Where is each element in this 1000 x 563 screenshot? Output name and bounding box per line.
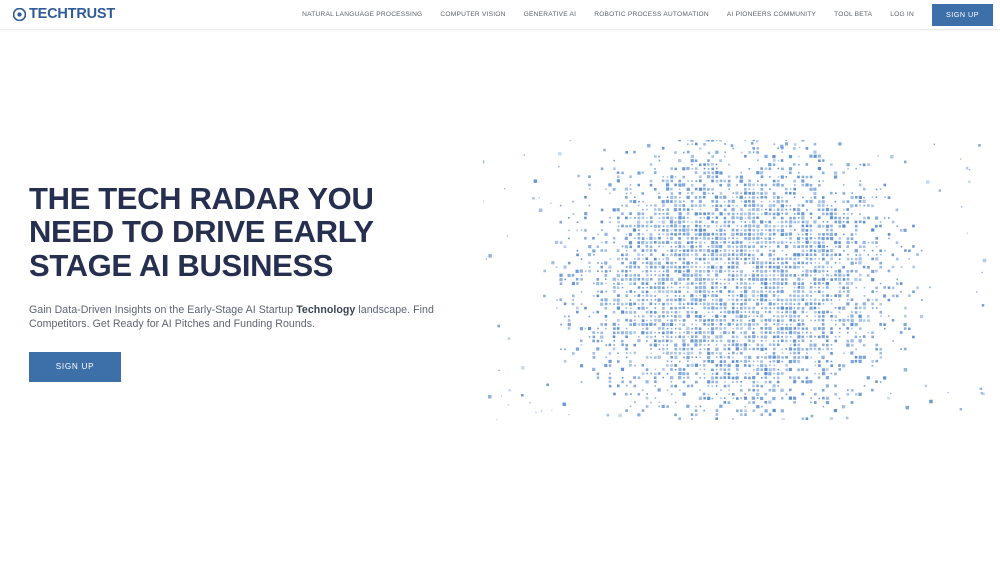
nav-item-computer-vision[interactable]: COMPUTER VISION: [431, 0, 514, 30]
nav-item-generative-ai[interactable]: GENERATIVE AI: [515, 0, 586, 30]
hero-subtitle: Gain Data-Driven Insights on the Early-S…: [29, 303, 439, 331]
site-header: TECHTRUST NATURAL LANGUAGE PROCESSING CO…: [0, 0, 1000, 30]
nav-item-robotic-process-automation[interactable]: ROBOTIC PROCESS AUTOMATION: [585, 0, 718, 30]
header-signup-button[interactable]: SIGN UP: [932, 4, 993, 26]
nav-item-tool-beta[interactable]: TOOL BETA: [825, 0, 881, 30]
main-navigation: NATURAL LANGUAGE PROCESSING COMPUTER VIS…: [293, 0, 1000, 30]
nav-item-natural-language-processing[interactable]: NATURAL LANGUAGE PROCESSING: [293, 0, 431, 30]
dot-matrix-cluster-graphic: [483, 140, 988, 420]
page-title: THE TECH RADAR YOU NEED TO DRIVE EARLY S…: [29, 182, 449, 282]
nav-item-log-in[interactable]: LOG IN: [881, 0, 923, 30]
radar-target-icon: [13, 8, 26, 21]
brand-logo[interactable]: TECHTRUST: [13, 7, 115, 22]
hero-signup-button[interactable]: SIGN UP: [29, 352, 121, 382]
brand-name: TECHTRUST: [29, 7, 115, 22]
nav-item-ai-pioneers-community[interactable]: AI PIONEERS COMMUNITY: [718, 0, 825, 30]
hero-section: THE TECH RADAR YOU NEED TO DRIVE EARLY S…: [0, 30, 1000, 563]
hero-subtitle-part1: Gain Data-Driven Insights on the Early-S…: [29, 304, 296, 316]
hero-subtitle-emphasis: Technology: [296, 304, 355, 316]
landing-page: TECHTRUST NATURAL LANGUAGE PROCESSING CO…: [0, 0, 1000, 563]
hero-copy-block: THE TECH RADAR YOU NEED TO DRIVE EARLY S…: [29, 182, 449, 382]
